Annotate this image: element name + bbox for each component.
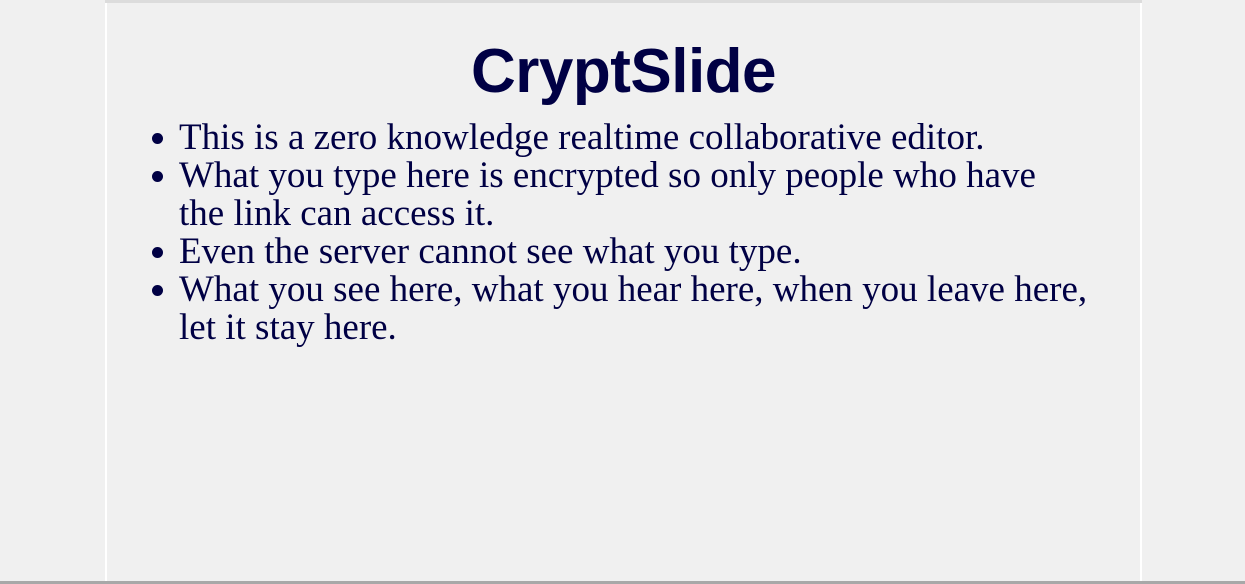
slide-bullet-list[interactable]: This is a zero knowledge realtime collab… (107, 119, 1140, 347)
list-item[interactable]: This is a zero knowledge realtime collab… (107, 119, 1140, 157)
list-item[interactable]: What you type here is encrypted so only … (107, 157, 1140, 233)
list-item-text: What you type here is encrypted so only … (179, 155, 1036, 234)
bullet-dot-icon (152, 133, 163, 144)
left-gutter (0, 0, 105, 584)
slide-canvas[interactable]: CryptSlide This is a zero knowledge real… (105, 3, 1142, 581)
page-title[interactable]: CryptSlide (107, 3, 1140, 103)
list-item[interactable]: What you see here, what you hear here, w… (107, 271, 1140, 347)
bullet-dot-icon (152, 285, 163, 296)
right-gutter (1142, 0, 1245, 584)
list-item-text: What you see here, what you hear here, w… (179, 269, 1087, 348)
bullet-dot-icon (152, 171, 163, 182)
list-item-text: Even the server cannot see what you type… (179, 231, 802, 272)
list-item-text: This is a zero knowledge realtime collab… (179, 117, 985, 158)
list-item[interactable]: Even the server cannot see what you type… (107, 233, 1140, 271)
bullet-dot-icon (152, 247, 163, 258)
